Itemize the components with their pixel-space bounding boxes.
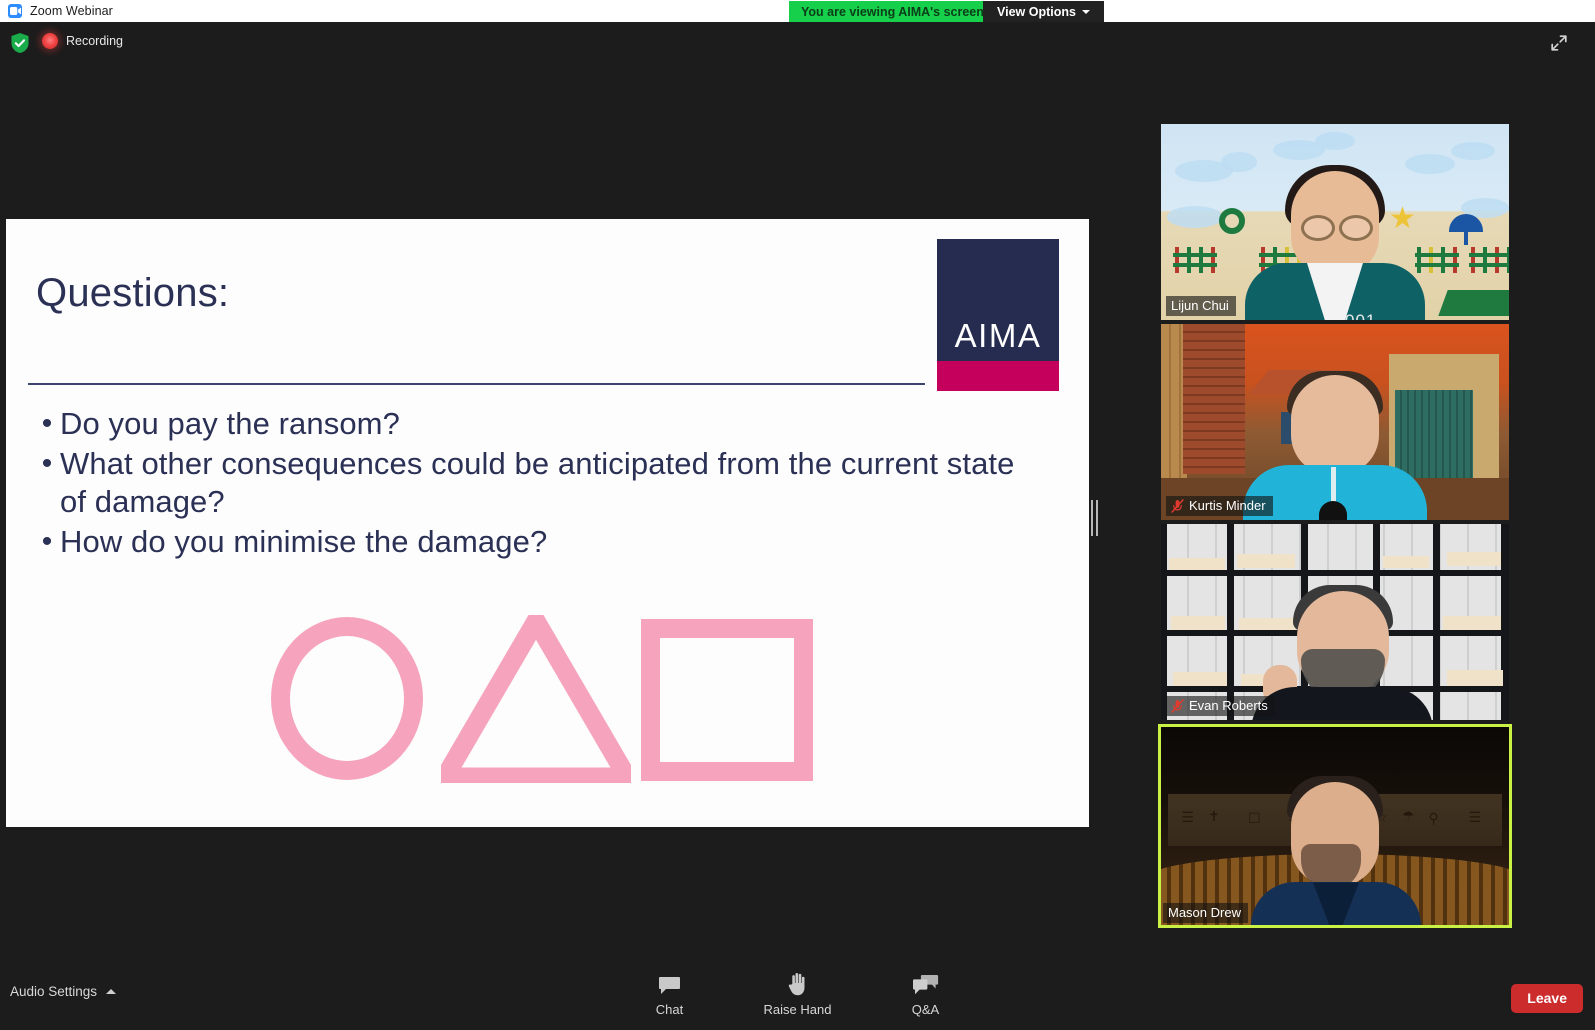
- raised-hand-icon: [788, 970, 808, 996]
- muted-microphone-icon: [1171, 499, 1184, 513]
- bullet-marker: •: [34, 445, 60, 483]
- pink-triangle-shape: [441, 615, 631, 783]
- bullet-marker: •: [34, 523, 60, 561]
- participant-tile-evan-roberts[interactable]: Evan Roberts: [1161, 524, 1509, 720]
- qa-bubbles-icon: [913, 970, 939, 996]
- window-title: Zoom Webinar: [30, 4, 113, 18]
- chevron-down-icon: [1082, 10, 1090, 14]
- participant-name-label: Evan Roberts: [1166, 696, 1275, 716]
- recording-label: Recording: [66, 34, 123, 48]
- list-item: • How do you minimise the damage?: [34, 523, 1044, 561]
- audio-settings-label: Audio Settings: [10, 984, 97, 999]
- list-item: • Do you pay the ransom?: [34, 405, 1044, 443]
- participant-name-label: Mason Drew: [1163, 903, 1248, 923]
- meeting-toolbar: Audio Settings Chat Raise Hand: [0, 962, 1595, 1030]
- bullet-text: What other consequences could be anticip…: [60, 445, 1044, 521]
- raise-hand-button[interactable]: Raise Hand: [762, 970, 834, 1017]
- jersey-number: 001: [1345, 311, 1376, 320]
- participant-tile-mason-drew[interactable]: ☰ ✝ ☐ ☷ ☆ ☂ ⚲ ☰ Mason Drew: [1158, 724, 1512, 928]
- participant-video-strip: ★: [1161, 124, 1511, 928]
- shared-screen-slide: Questions: AIMA • Do you pay the ransom?…: [6, 219, 1089, 827]
- view-options-label: View Options: [997, 5, 1076, 19]
- expand-arrows-icon[interactable]: [1545, 30, 1573, 56]
- pink-circle-shape: [271, 617, 423, 780]
- leave-button[interactable]: Leave: [1511, 984, 1583, 1013]
- avatar: [1247, 591, 1437, 720]
- aima-logo-bar: [937, 361, 1059, 391]
- slide-bullet-list: • Do you pay the ransom? • What other co…: [34, 405, 1044, 563]
- participant-name-label: Lijun Chui: [1166, 296, 1236, 316]
- bullet-text: Do you pay the ransom?: [60, 405, 400, 443]
- chat-bubble-icon: [658, 970, 681, 996]
- recording-dot-icon: [42, 33, 58, 49]
- list-item: • What other consequences could be antic…: [34, 445, 1044, 521]
- green-shield-check-icon[interactable]: [10, 32, 30, 53]
- raise-hand-label: Raise Hand: [764, 1002, 832, 1017]
- bullet-marker: •: [34, 405, 60, 443]
- bullet-text: How do you minimise the damage?: [60, 523, 547, 561]
- muted-microphone-icon: [1171, 699, 1184, 713]
- slide-divider: [28, 383, 925, 385]
- meeting-status-bar: [0, 22, 1595, 62]
- avatar: [1235, 782, 1435, 928]
- squid-game-shapes-graphic: [261, 567, 821, 817]
- qa-button[interactable]: Q&A: [890, 970, 962, 1017]
- zoom-webinar-window: Zoom Webinar You are viewing AIMA's scre…: [0, 0, 1595, 1030]
- view-options-button[interactable]: View Options: [983, 1, 1104, 22]
- chat-button[interactable]: Chat: [634, 970, 706, 1017]
- chevron-up-icon: [106, 989, 116, 994]
- avatar: 001: [1225, 171, 1445, 320]
- screen-share-banner: You are viewing AIMA's screen: [789, 1, 996, 22]
- participant-tile-lijun-chui[interactable]: ★: [1161, 124, 1509, 320]
- audio-settings-button[interactable]: Audio Settings: [10, 984, 116, 999]
- recording-indicator[interactable]: Recording: [42, 33, 123, 49]
- aima-logo: AIMA: [937, 239, 1059, 391]
- participant-tile-kurtis-minder[interactable]: Kurtis Minder: [1161, 324, 1509, 520]
- zoom-camera-icon: [8, 4, 22, 18]
- aima-logo-text: AIMA: [937, 317, 1059, 355]
- vertical-drag-handle-icon[interactable]: [1089, 500, 1099, 536]
- chat-label: Chat: [656, 1002, 683, 1017]
- qa-label: Q&A: [912, 1002, 939, 1017]
- slide-title: Questions:: [36, 271, 229, 316]
- pink-square-shape: [641, 619, 813, 781]
- participant-name-label: Kurtis Minder: [1166, 496, 1273, 516]
